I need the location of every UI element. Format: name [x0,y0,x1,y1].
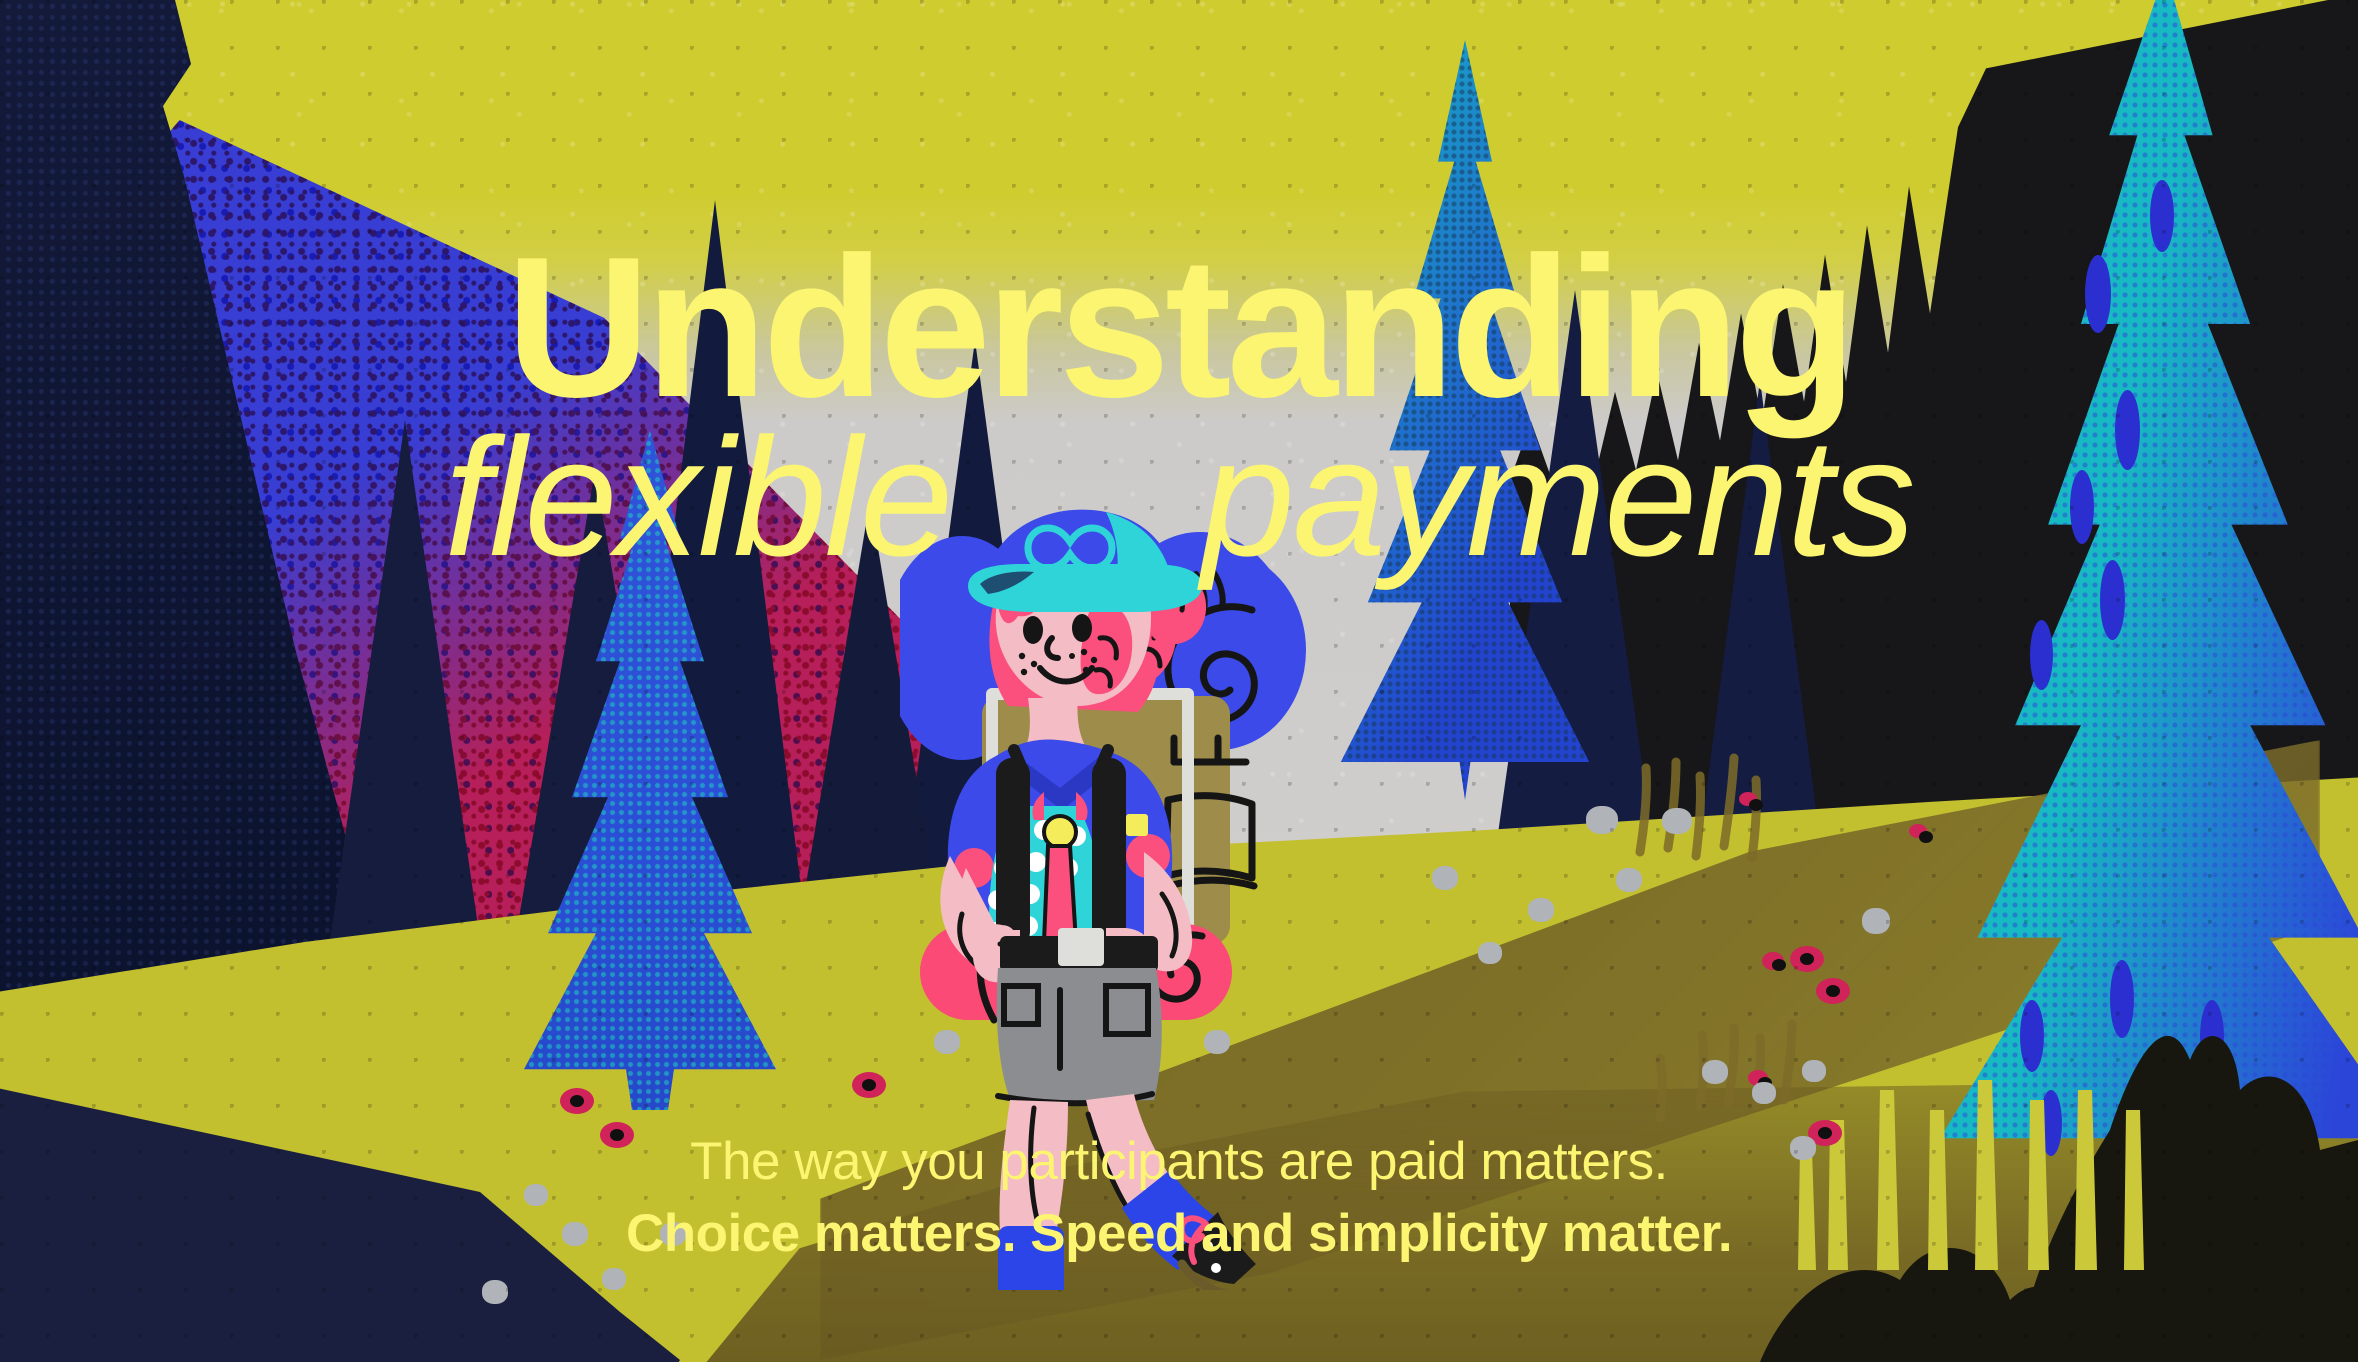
pebble [1862,908,1890,934]
eye-left [1023,616,1043,644]
page-subtitle: flexiblepayments [0,412,2358,583]
strap-right [1092,758,1126,948]
poppy-flower [1762,952,1784,970]
pebble [602,1268,626,1290]
shirt-badge [1126,814,1148,836]
conifer-needle [2110,960,2134,1038]
pebble [1586,806,1618,834]
conifer-needle [2200,1000,2224,1074]
hero-banner: Understanding [0,0,2358,1362]
poppy-flower [1909,824,1927,838]
belt-buckle [1058,928,1104,966]
eye-right [1072,614,1092,642]
caption-line-2: Choice matters. Speed and simplicity mat… [0,1200,2358,1268]
pebble [1702,1060,1728,1084]
pebble [1478,942,1502,964]
pebble [1616,868,1642,892]
pebble [1432,866,1458,890]
poppy-flower [1790,946,1824,972]
pebble [1752,1082,1776,1104]
pebble [482,1280,508,1304]
woggle [1044,816,1076,848]
poppy-flower [1816,978,1850,1004]
poppy-flower [560,1088,594,1114]
hero-caption: The way you participants are paid matter… [0,1128,2358,1268]
poppy-flower [1739,792,1757,806]
strap-left [996,758,1030,948]
conifer-needle [2020,1000,2044,1072]
pebble [1802,1060,1826,1082]
subtitle-word-flexible: flexible [444,412,951,583]
caption-line-1: The way you participants are paid matter… [0,1128,2358,1196]
subtitle-word-payments: payments [1201,412,1913,583]
pebble [1662,808,1692,834]
pebble [1528,898,1554,922]
poppy-flower [852,1072,886,1098]
page-title: Understanding [0,232,2358,424]
conifer-needle [2030,620,2053,690]
